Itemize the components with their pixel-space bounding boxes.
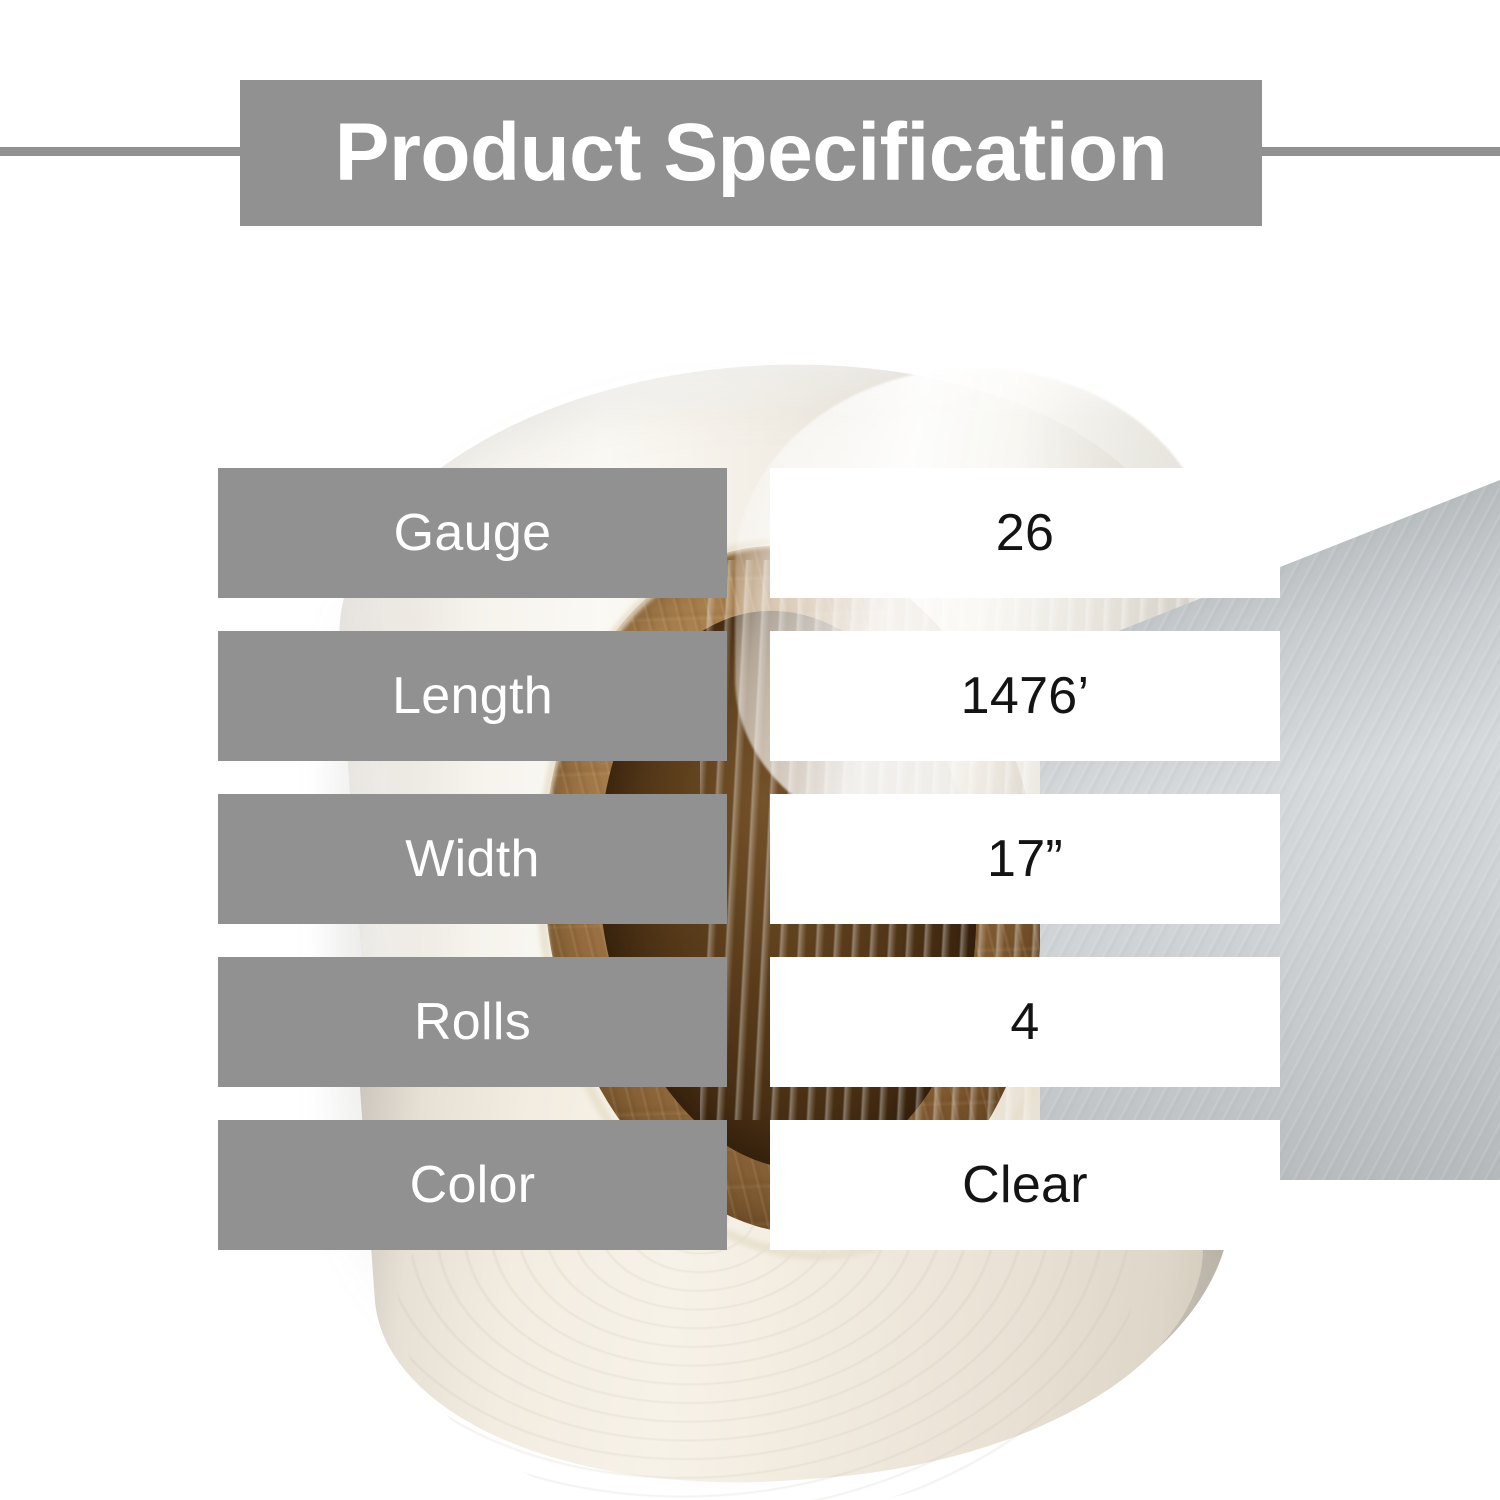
spec-value-color: Clear [770,1120,1280,1250]
spec-label-length: Length [218,631,727,761]
spec-value-width: 17” [770,794,1280,924]
spec-value-length: 1476’ [770,631,1280,761]
spec-label-text: Color [410,1155,536,1215]
spec-label-gauge: Gauge [218,468,727,598]
spec-value-gauge: 26 [770,468,1280,598]
spec-label-text: Gauge [394,503,552,563]
spec-label-text: Width [405,829,539,889]
column-gap [727,468,770,598]
spec-label-color: Color [218,1120,727,1250]
column-gap [727,1120,770,1250]
table-row: Width 17” [218,794,1280,924]
header-banner: Product Specification [240,80,1262,226]
spec-value-text: Clear [962,1155,1088,1215]
table-row: Rolls 4 [218,957,1280,1087]
spec-value-text: 17” [987,829,1063,889]
table-row: Length 1476’ [218,631,1280,761]
column-gap [727,631,770,761]
spec-sheet-canvas: Product Specification Gauge 26 Length 14… [0,0,1500,1500]
page-title: Product Specification [335,112,1167,194]
spec-value-text: 26 [996,503,1054,563]
spec-label-text: Length [392,666,553,726]
table-row: Gauge 26 [218,468,1280,598]
specification-table: Gauge 26 Length 1476’ Width 17” [218,468,1280,1250]
spec-value-rolls: 4 [770,957,1280,1087]
spec-value-text: 4 [1010,992,1039,1052]
column-gap [727,957,770,1087]
spec-label-rolls: Rolls [218,957,727,1087]
spec-value-text: 1476’ [961,666,1090,726]
table-row: Color Clear [218,1120,1280,1250]
spec-label-width: Width [218,794,727,924]
spec-label-text: Rolls [414,992,531,1052]
column-gap [727,794,770,924]
